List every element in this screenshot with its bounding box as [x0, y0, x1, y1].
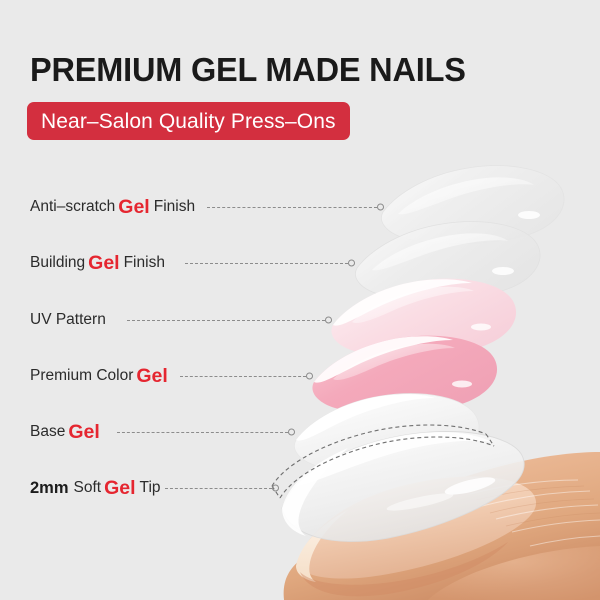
callout-word: Soft — [74, 477, 102, 499]
callout-uv-pattern: UV Pattern — [30, 309, 106, 331]
callout-anti-scratch-gel-finish: Anti–scratchGelFinish — [30, 196, 195, 218]
nail-layer-artwork — [0, 0, 600, 600]
callout-word: Building — [30, 252, 85, 274]
page-title: PREMIUM GEL MADE NAILS — [30, 50, 466, 90]
leader-line — [180, 376, 306, 378]
leader-endpoint — [377, 204, 384, 211]
fingertip — [284, 452, 600, 600]
callout-soft-gel-tip: 2mmSoftGelTip — [30, 477, 161, 499]
callout-word: Finish — [124, 252, 165, 274]
callout-base-gel: BaseGel — [30, 421, 103, 443]
leader-line — [127, 320, 325, 322]
leader-endpoint — [272, 485, 279, 492]
leader-line — [207, 207, 377, 209]
callout-word: Anti–scratch — [30, 196, 115, 218]
callout-word: UV Pattern — [30, 309, 106, 331]
callout-accent-word: Gel — [115, 196, 152, 218]
callout-word: Base — [30, 421, 65, 443]
leader-line — [117, 432, 288, 434]
callout-word: Finish — [154, 196, 195, 218]
callout-word: Tip — [140, 477, 161, 499]
callout-accent-word: Gel — [101, 477, 138, 499]
product-infographic: PREMIUM GEL MADE NAILS Near–Salon Qualit… — [0, 0, 600, 600]
callout-building-gel-finish: BuildingGelFinish — [30, 252, 165, 274]
leader-line — [185, 263, 348, 265]
callout-premium-color-gel: Premium ColorGel — [30, 365, 171, 387]
leader-endpoint — [306, 373, 313, 380]
tagline-badge: Near–Salon Quality Press–Ons — [27, 102, 350, 140]
leader-endpoint — [325, 317, 332, 324]
leader-endpoint — [288, 429, 295, 436]
callout-accent-word: Gel — [133, 365, 170, 387]
leader-line — [165, 488, 272, 490]
tagline-badge-label: Near–Salon Quality Press–Ons — [41, 111, 336, 132]
callout-accent-word: Gel — [85, 252, 122, 274]
leader-endpoint — [348, 260, 355, 267]
callout-strong-word: 2mm — [30, 477, 69, 499]
callout-accent-word: Gel — [65, 421, 102, 443]
callout-word: Premium Color — [30, 365, 133, 387]
